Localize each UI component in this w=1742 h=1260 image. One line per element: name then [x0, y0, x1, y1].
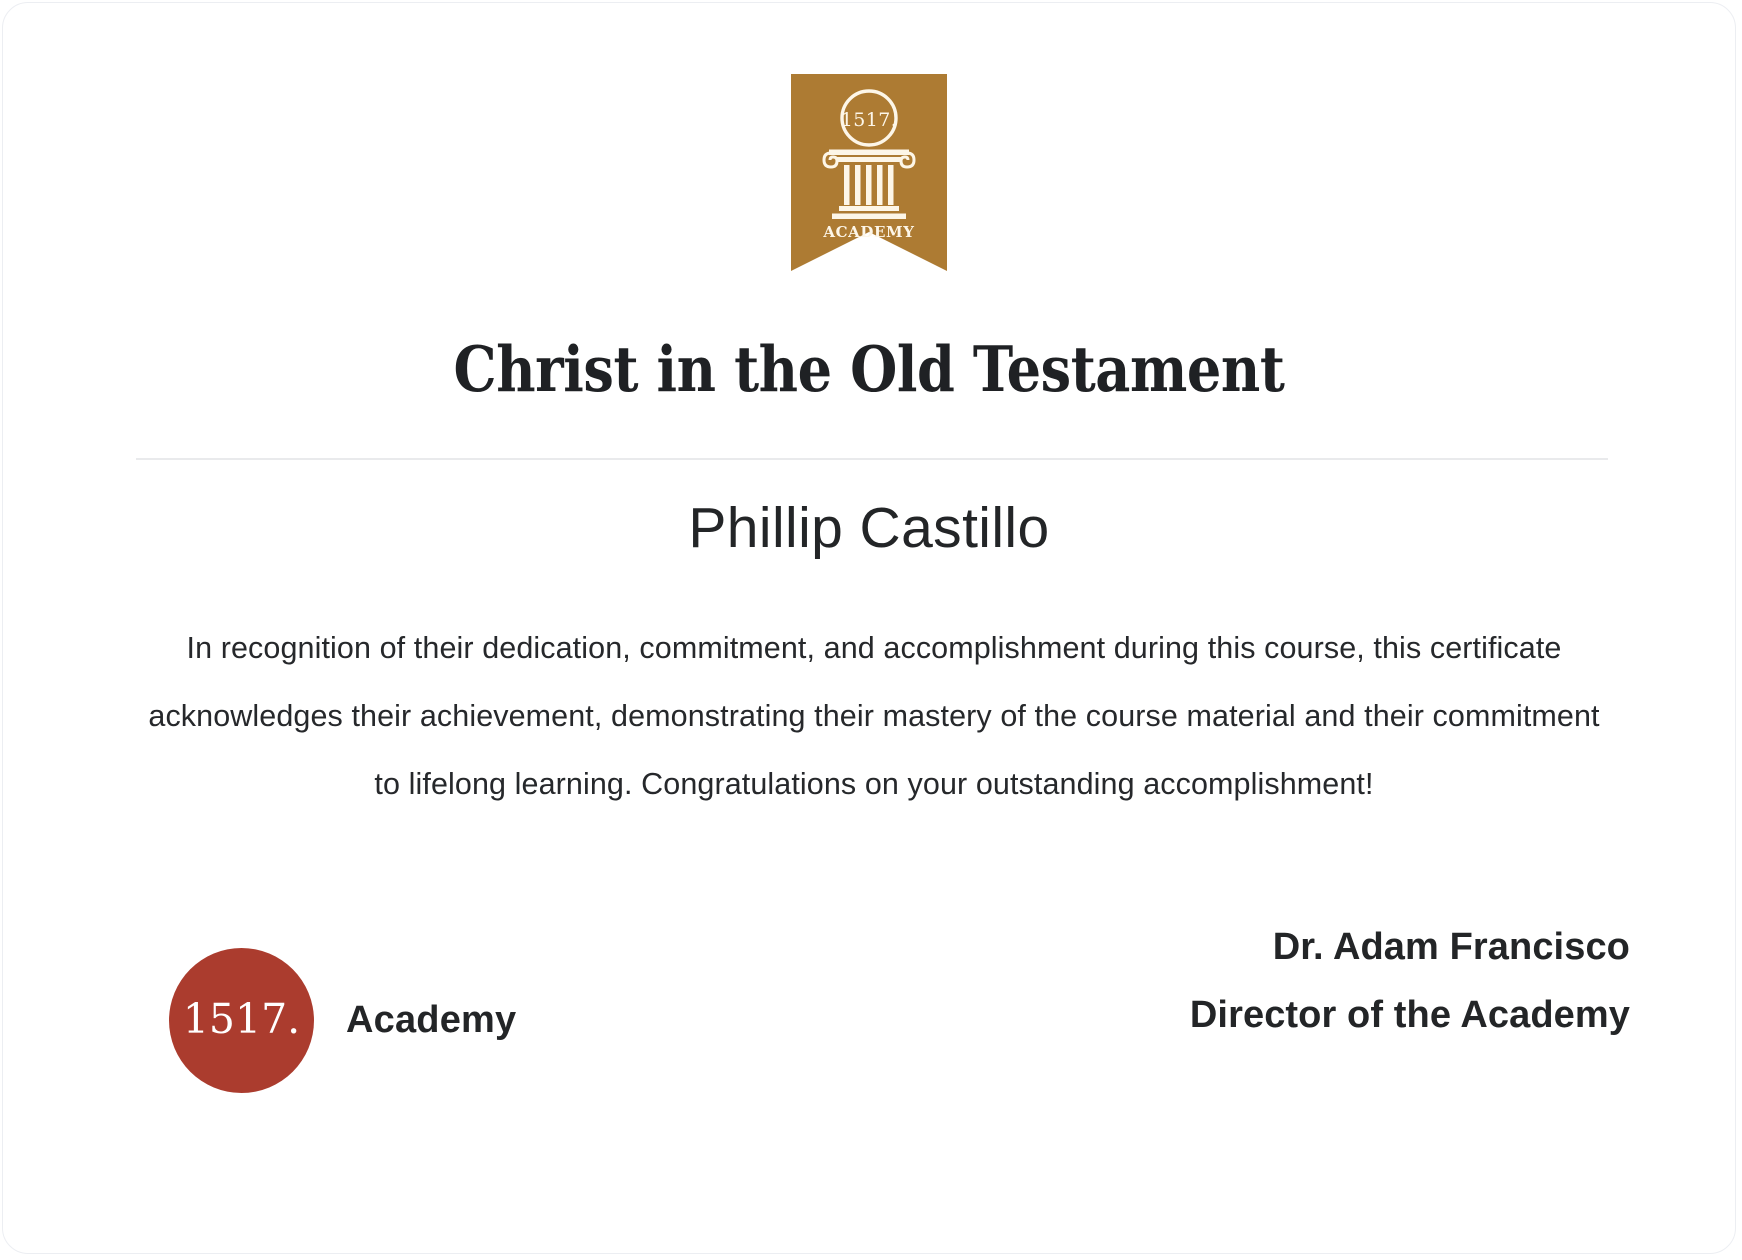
title-divider: [136, 458, 1608, 460]
svg-text:1517.: 1517.: [841, 109, 897, 131]
signature-block: Dr. Adam Francisco Director of the Acade…: [1190, 928, 1630, 1034]
academy-seal-group: 1517. Academy: [169, 948, 516, 1093]
certificate-card: 1517. ACADEMY Christ in the Old: [2, 2, 1736, 1254]
signatory-role: Director of the Academy: [1190, 996, 1630, 1034]
course-title: Christ in the Old Testament: [124, 335, 1614, 403]
seal-year-text: 1517.: [183, 999, 300, 1040]
recognition-text: In recognition of their dedication, comm…: [143, 614, 1605, 818]
signatory-name: Dr. Adam Francisco: [1190, 928, 1630, 966]
logo-banner-container: 1517. ACADEMY: [3, 74, 1735, 271]
academy-seal-icon: 1517.: [169, 948, 314, 1093]
academy-seal-label: Academy: [346, 999, 516, 1042]
certificate-footer: 1517. Academy Dr. Adam Francisco Directo…: [3, 928, 1735, 1118]
svg-text:ACADEMY: ACADEMY: [822, 223, 914, 241]
academy-banner-logo: 1517. ACADEMY: [791, 74, 947, 271]
recipient-name: Phillip Castillo: [3, 497, 1735, 561]
